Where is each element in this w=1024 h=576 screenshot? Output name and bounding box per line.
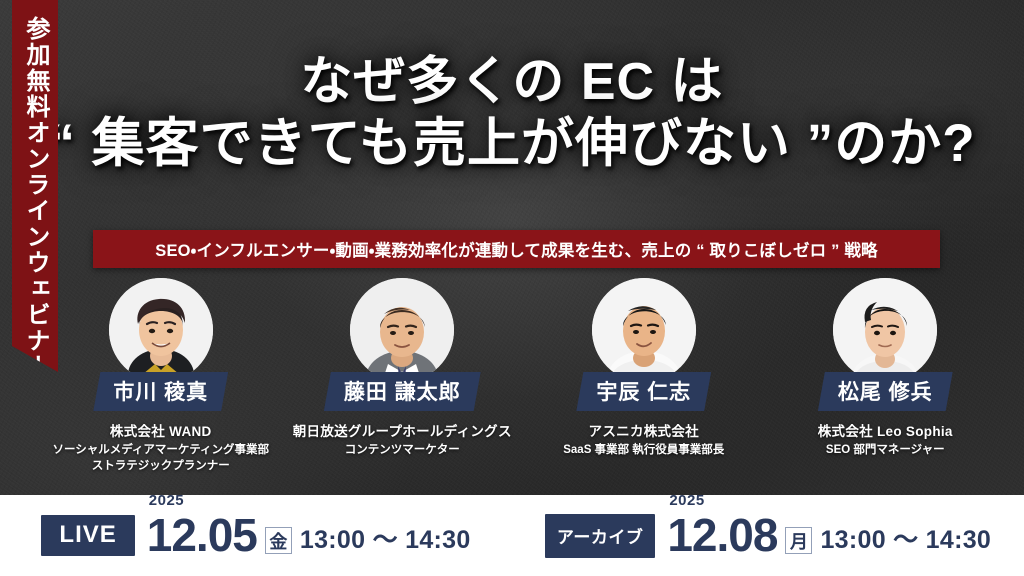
live-date: 12.05 xyxy=(147,514,257,558)
schedule-entry-live: LIVE 2025 12.05 金 13:00 ～ 14:30 xyxy=(0,514,512,558)
speaker-role: コンテンツマーケター xyxy=(345,443,460,459)
webinar-poster: 参加無料オンラインウェビナー なぜ多くの EC は “ 集客できても売上が伸びな… xyxy=(0,0,1024,576)
speaker-card: 藤田 謙太郎 朝日放送グループホールディングス コンテンツマーケター xyxy=(282,278,524,474)
live-date-group: 2025 12.05 金 13:00 ～ 14:30 xyxy=(147,514,471,558)
speaker-row: 市川 稜真 株式会社 WAND ソーシャルメディアマーケティング事業部 ストラテ… xyxy=(40,278,1006,474)
speaker-org: アスニカ株式会社 xyxy=(589,420,699,440)
live-badge: LIVE xyxy=(41,515,134,556)
archive-date-group: 2025 12.08 月 13:00 ～ 14:30 xyxy=(667,514,991,558)
speaker-name-badge: 藤田 謙太郎 xyxy=(324,372,481,411)
archive-date: 12.08 xyxy=(667,514,777,558)
speaker-role-line-1: コンテンツマーケター xyxy=(345,444,460,456)
speaker-role: SEO 部門マネージャー xyxy=(826,443,945,459)
speaker-name-badge: 市川 稜真 xyxy=(93,372,228,411)
speaker-photo-ichikawa xyxy=(109,278,213,382)
live-day-of-week: 金 xyxy=(265,527,292,554)
speaker-photo-utatsu xyxy=(592,278,696,382)
archive-time: 13:00 ～ 14:30 xyxy=(820,520,991,556)
speaker-photo-fujita xyxy=(350,278,454,382)
schedule-entry-archive: アーカイブ 2025 12.08 月 13:00 ～ 14:30 xyxy=(512,514,1024,558)
speaker-name-badge: 宇辰 仁志 xyxy=(576,372,711,411)
speaker-role-line-1: SaaS 事業部 執行役員事業部長 xyxy=(563,444,724,456)
speaker-role-line-1: ソーシャルメディアマーケティング事業部 xyxy=(52,444,269,456)
speaker-role-line-2: ストラテジックプランナー xyxy=(92,460,230,472)
speaker-role: SaaS 事業部 執行役員事業部長 xyxy=(563,443,724,459)
speaker-photo-matsuo xyxy=(833,278,937,382)
live-time: 13:00 ～ 14:30 xyxy=(300,520,471,556)
archive-day-of-week: 月 xyxy=(785,527,812,554)
speaker-org: 株式会社 Leo Sophia xyxy=(818,420,953,440)
speaker-role: ソーシャルメディアマーケティング事業部 ストラテジックプランナー xyxy=(52,443,269,474)
subtitle-bar: SEO・インフルエンサー・動画・業務効率化が連動して成果を生む、売上の “ 取り… xyxy=(93,230,940,268)
live-year: 2025 xyxy=(149,492,184,509)
headline-line-1: なぜ多くの EC は xyxy=(0,52,1024,113)
free-webinar-ribbon: 参加無料オンラインウェビナー xyxy=(12,0,58,372)
speaker-card: 宇辰 仁志 アスニカ株式会社 SaaS 事業部 執行役員事業部長 xyxy=(523,278,765,474)
archive-year: 2025 xyxy=(669,492,704,509)
speaker-org: 株式会社 WAND xyxy=(110,420,212,440)
ribbon-label: 参加無料オンラインウェビナー xyxy=(23,16,47,380)
headline: なぜ多くの EC は “ 集客できても売上が伸びない ”のか? xyxy=(0,52,1024,176)
speaker-name-badge: 松尾 修兵 xyxy=(818,372,953,411)
subtitle-text: SEO・インフルエンサー・動画・業務効率化が連動して成果を生む、売上の “ 取り… xyxy=(155,237,878,261)
schedule-bar: LIVE 2025 12.05 金 13:00 ～ 14:30 アーカイブ 20… xyxy=(0,495,1024,576)
speaker-org: 朝日放送グループホールディングス xyxy=(293,420,512,440)
speaker-role-line-1: SEO 部門マネージャー xyxy=(826,444,945,456)
archive-badge: アーカイブ xyxy=(545,514,655,558)
speaker-card: 松尾 修兵 株式会社 Leo Sophia SEO 部門マネージャー xyxy=(765,278,1007,474)
headline-line-2: “ 集客できても売上が伸びない ”のか? xyxy=(0,113,1024,176)
speaker-card: 市川 稜真 株式会社 WAND ソーシャルメディアマーケティング事業部 ストラテ… xyxy=(40,278,282,474)
